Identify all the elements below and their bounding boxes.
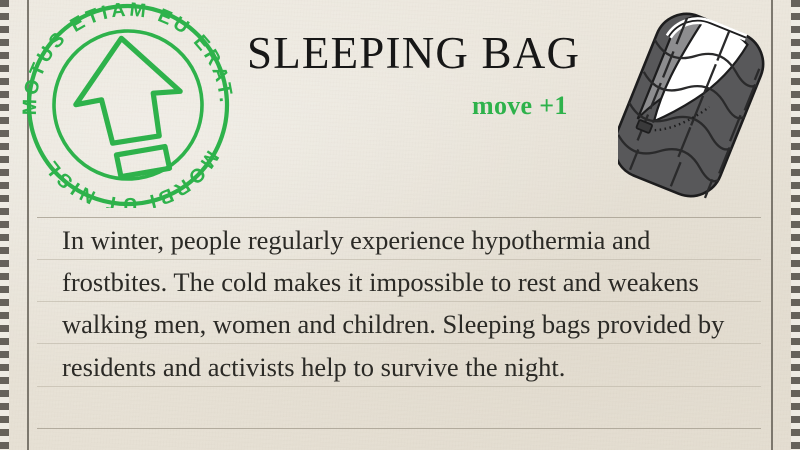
rubber-stamp: MOTUS ETIAM EU ERAT. MORBI UT NISL <box>14 2 242 208</box>
sleeping-bag-illustration <box>618 8 774 208</box>
perforation-edge-right <box>791 0 800 450</box>
move-bonus-badge: move +1 <box>472 91 568 121</box>
perforation-edge-left <box>0 0 9 450</box>
card-description: In winter, people regularly experience h… <box>62 219 752 388</box>
page-title: SLEEPING BAG <box>247 27 580 79</box>
card-description-text: In winter, people regularly experience h… <box>62 219 752 388</box>
rule-line-top <box>37 217 761 218</box>
svg-text:MOTUS ETIAM EU ERAT.: MOTUS ETIAM EU ERAT. <box>14 2 237 117</box>
up-arrow-icon <box>71 34 185 179</box>
rule-line-bottom <box>37 428 761 429</box>
stamp-text-top: MOTUS ETIAM EU ERAT. <box>14 2 237 117</box>
sleeping-bag-card: MOTUS ETIAM EU ERAT. MORBI UT NISL SLEEP… <box>0 0 800 450</box>
